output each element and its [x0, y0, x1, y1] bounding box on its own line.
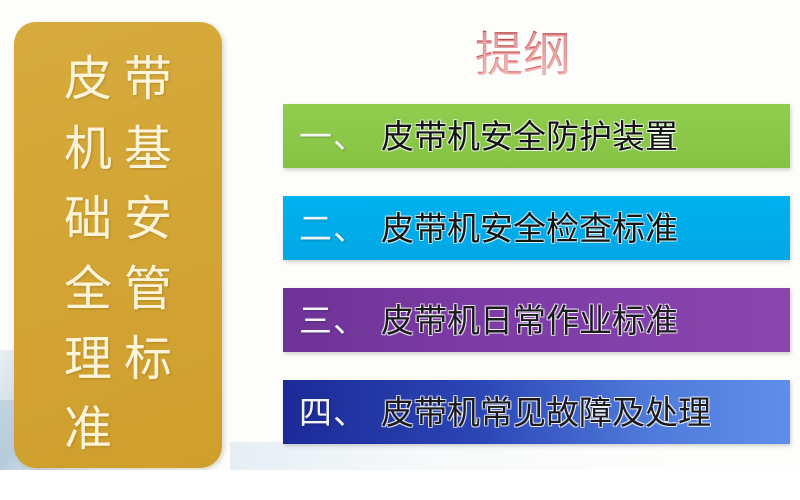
title-char: 管: [124, 254, 172, 324]
outline-item-number: 二、: [283, 212, 367, 245]
title-char: 安: [124, 184, 172, 254]
presentation-slide: 带 基 安 管 标 皮 机 础 全 理 准 提纲: [0, 0, 800, 500]
title-char: 础: [64, 184, 112, 254]
outline-item-number: 一、: [283, 120, 367, 153]
title-char: 准: [64, 394, 112, 464]
outline-item-3[interactable]: 三、 皮带机日常作业标准: [283, 288, 790, 352]
title-char: 基: [124, 114, 172, 184]
title-char: 机: [64, 114, 112, 184]
vertical-title-panel: 带 基 安 管 标 皮 机 础 全 理 准: [14, 22, 222, 468]
outline-item-number: 三、: [283, 304, 367, 337]
title-char: 皮: [64, 44, 112, 114]
outline-heading: 提纲: [463, 26, 583, 84]
title-char: 标: [124, 324, 172, 394]
outline-item-label: 皮带机安全防护装置: [381, 120, 678, 153]
outline-item-label: 皮带机常见故障及处理: [381, 396, 711, 429]
title-char: 全: [64, 254, 112, 324]
vertical-title-column-1: 皮 机 础 全 理 准: [60, 44, 116, 464]
outline-item-1[interactable]: 一、 皮带机安全防护装置: [283, 104, 790, 168]
vertical-title-columns: 带 基 安 管 标 皮 机 础 全 理 准: [14, 22, 222, 468]
slide-bottom-margin: [0, 470, 800, 500]
outline-item-2[interactable]: 二、 皮带机安全检查标准: [283, 196, 790, 260]
outline-item-list: 一、 皮带机安全防护装置 二、 皮带机安全检查标准 三、 皮带机日常作业标准 四…: [283, 104, 790, 470]
title-char: 带: [124, 44, 172, 114]
outline-item-number: 四、: [283, 396, 367, 429]
outline-item-4[interactable]: 四、 皮带机常见故障及处理: [283, 380, 790, 444]
title-char: 理: [64, 324, 112, 394]
vertical-title-column-2: 带 基 安 管 标: [120, 44, 176, 394]
slide-canvas: 带 基 安 管 标 皮 机 础 全 理 准 提纲: [0, 0, 800, 470]
outline-item-label: 皮带机安全检查标准: [381, 212, 678, 245]
outline-item-label: 皮带机日常作业标准: [381, 304, 678, 337]
